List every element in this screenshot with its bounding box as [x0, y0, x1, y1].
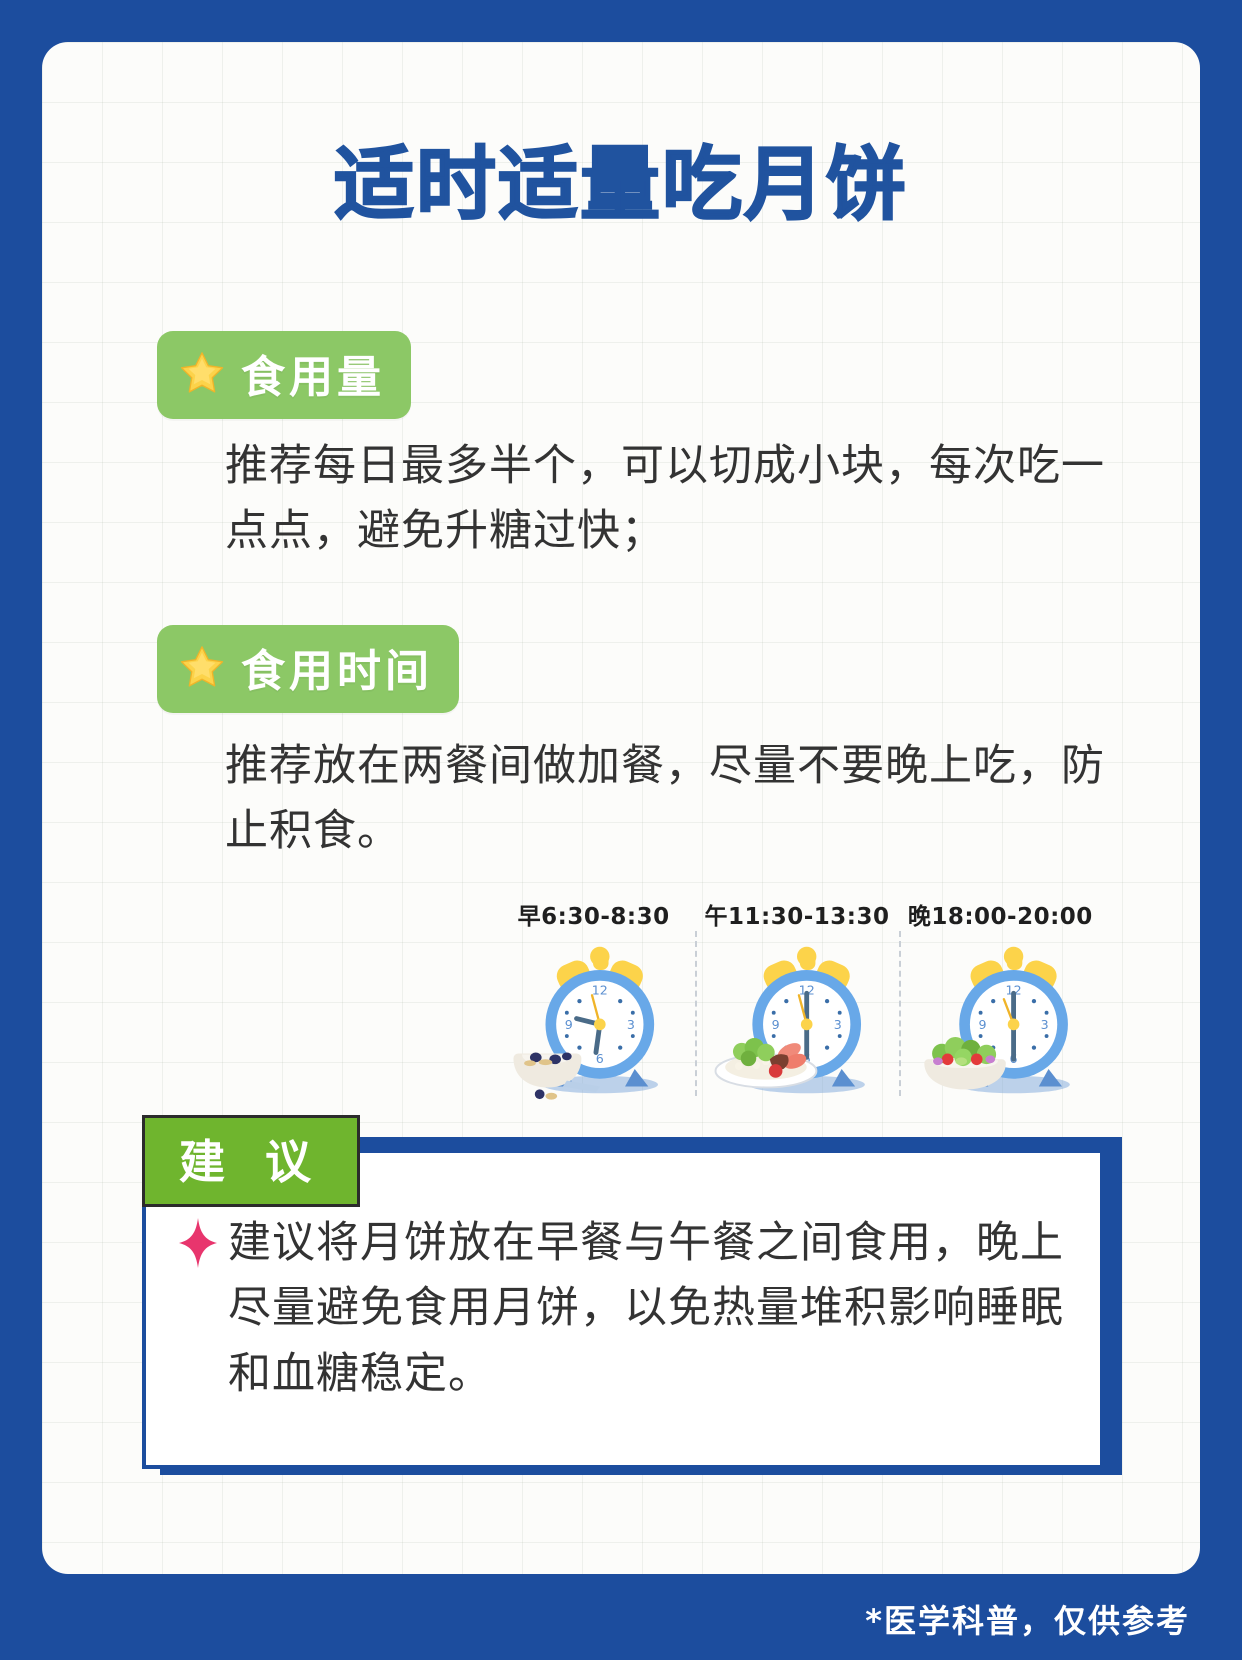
suggestion-block: 建 议 建议将月饼放在早餐与午餐之间食用，晚上尽量避免食用月饼，以免热量堆积影响…	[142, 1115, 1122, 1475]
page-title: 适时适量吃月饼	[42, 120, 1200, 236]
section-header-time-label: 食用时间	[241, 635, 433, 699]
section-header-amount-label: 食用量	[241, 341, 385, 405]
section-header-amount: 食用量	[157, 331, 411, 419]
svg-text:9: 9	[772, 1017, 780, 1032]
footer-disclaimer: *医学科普，仅供参考	[0, 1578, 1242, 1660]
poster-frame: 适时适量吃月饼 食用量 推荐每日最多半个，可以切成小块，每次吃一点点，避免升糖过…	[0, 0, 1242, 1660]
svg-text:12: 12	[591, 982, 607, 997]
alarm-clock-with-salad-bowl-icon: 12 3 6 9	[910, 939, 1090, 1102]
alarm-clock-with-cereal-bowl-icon: 12 3 6 9	[504, 939, 684, 1102]
alarm-clock-with-rice-plate-icon: 12 3 6 9	[707, 939, 887, 1102]
svg-text:9: 9	[564, 1017, 572, 1032]
meal-time-morning: 早6:30-8:30 12 3 6 9	[492, 897, 695, 1102]
svg-text:3: 3	[834, 1017, 842, 1032]
section-header-time: 食用时间	[157, 625, 459, 713]
svg-text:3: 3	[627, 1017, 635, 1032]
meal-time-evening: 晚18:00-20:00 12 3 6 9	[899, 897, 1102, 1102]
meal-time-noon-label: 午11:30-13:30	[705, 897, 890, 931]
star-icon	[179, 350, 225, 396]
svg-text:3: 3	[1041, 1017, 1049, 1032]
svg-text:9: 9	[979, 1017, 987, 1032]
footer-note: *医学科普，仅供参考	[865, 1596, 1190, 1642]
section-text-amount: 推荐每日最多半个，可以切成小块，每次吃一点点，避免升糖过快；	[225, 434, 1105, 565]
suggestion-tag-label: 建 议	[179, 1135, 323, 1189]
suggestion-tag: 建 议	[142, 1115, 360, 1207]
meal-times-strip: 早6:30-8:30 12 3 6 9	[492, 897, 1102, 1102]
sparkle-icon	[178, 1217, 218, 1269]
meal-time-evening-label: 晚18:00-20:00	[908, 897, 1093, 931]
suggestion-body: 建议将月饼放在早餐与午餐之间食用，晚上尽量避免食用月饼，以免热量堆积影响睡眠和血…	[178, 1211, 1078, 1407]
content-card: 适时适量吃月饼 食用量 推荐每日最多半个，可以切成小块，每次吃一点点，避免升糖过…	[42, 42, 1200, 1574]
star-icon	[179, 644, 225, 690]
suggestion-text: 建议将月饼放在早餐与午餐之间食用，晚上尽量避免食用月饼，以免热量堆积影响睡眠和血…	[228, 1211, 1078, 1407]
meal-time-noon: 午11:30-13:30 12 3 6 9	[695, 897, 898, 1102]
meal-time-morning-label: 早6:30-8:30	[518, 897, 670, 931]
section-text-time: 推荐放在两餐间做加餐，尽量不要晚上吃，防止积食。	[225, 734, 1115, 865]
